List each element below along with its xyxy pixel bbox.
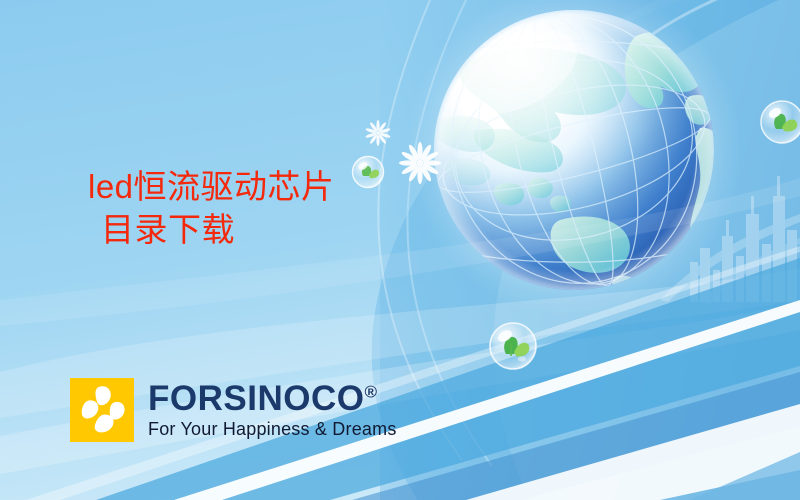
logo-tagline: For Your Happiness & Dreams	[148, 420, 397, 438]
bubble-sprout-lower	[490, 323, 536, 369]
company-logo: FORSINOCO® For Your Happiness & Dreams	[70, 378, 397, 442]
logo-text: FORSINOCO® For Your Happiness & Dreams	[148, 378, 397, 438]
registered-trademark-icon: ®	[364, 382, 377, 401]
headline-line-1: led恒流驱动芯片	[88, 166, 335, 209]
bubble-sprout-mid	[353, 157, 384, 188]
banner-canvas: led恒流驱动芯片 目录下载 FORSINOCO® For Your Happi…	[0, 0, 800, 500]
banner-headline: led恒流驱动芯片 目录下载	[88, 166, 335, 252]
logo-wordmark-text: FORSINOCO	[148, 379, 364, 418]
bubble-sprout-right	[761, 101, 800, 143]
logo-wordmark: FORSINOCO®	[148, 381, 397, 416]
headline-line-2: 目录下载	[88, 209, 335, 252]
logo-mark	[70, 378, 134, 442]
four-petal-pinwheel-icon	[70, 378, 134, 442]
